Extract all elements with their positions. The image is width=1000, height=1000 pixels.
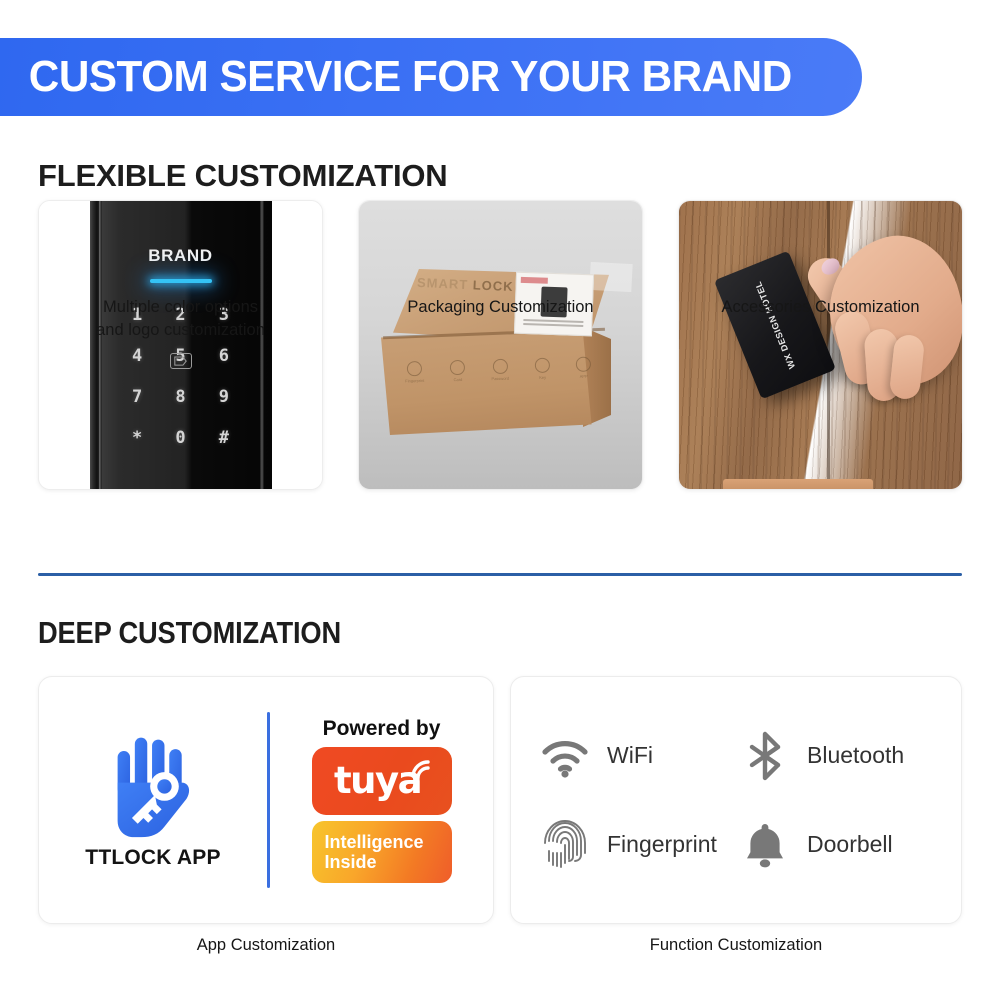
keypad-key: 4 (116, 346, 159, 366)
card-smart-lock: BRAND 1 2 3 4 5 6 7 8 9 * 0 # (38, 200, 323, 490)
intelligence-line1: Intelligence (325, 832, 452, 852)
lock-brand-text: BRAND (90, 246, 272, 266)
section-heading-flexible: FLEXIBLE CUSTOMIZATION (38, 158, 448, 194)
keypad-key: 7 (116, 387, 159, 407)
panel-app-customization: TTLOCK APP Powered by tuya Intelligence (38, 676, 494, 924)
smart-lock-image: BRAND 1 2 3 4 5 6 7 8 9 * 0 # (39, 201, 322, 489)
banner-title: CUSTOM SERVICE FOR YOUR BRAND (0, 52, 792, 102)
ttlock-block: TTLOCK APP (39, 730, 267, 870)
packaging-image: SMART LOCK Fingerprint Card Password Key… (359, 201, 642, 489)
label-logo (521, 277, 548, 284)
accessories-image: WX DESIGN HOTEL (679, 201, 962, 489)
function-item-fingerprint: Fingerprint (539, 819, 739, 871)
function-label: Fingerprint (607, 831, 717, 858)
caption-function-customization: Function Customization (510, 936, 962, 955)
function-item-bluetooth: Bluetooth (739, 730, 939, 782)
box-stamp (589, 262, 632, 292)
caption-smart-lock: Multiple color options and logo customiz… (38, 296, 323, 343)
keypad-key: 9 (202, 387, 245, 407)
box-feature-icon: APP (576, 357, 592, 379)
powered-by-label: Powered by (323, 717, 441, 741)
tuya-logo: tuya (312, 747, 452, 815)
keypad-key: * (116, 428, 159, 448)
keypad-key: 6 (202, 346, 245, 366)
box-feature-icon: Password (491, 359, 509, 381)
function-label: WiFi (607, 742, 653, 769)
box-feature-icon: Fingerprint (405, 361, 425, 383)
keypad-key: 8 (159, 387, 202, 407)
section-divider (38, 573, 962, 576)
wifi-icon (539, 730, 591, 782)
bell-icon (739, 819, 791, 871)
wood-shelf-edge (723, 479, 873, 490)
hand-key-icon (105, 730, 201, 840)
caption-app-customization: App Customization (38, 936, 494, 955)
card-packaging: SMART LOCK Fingerprint Card Password Key… (358, 200, 643, 490)
flexible-card-row: BRAND 1 2 3 4 5 6 7 8 9 * 0 # (0, 200, 1000, 550)
lock-body: BRAND 1 2 3 4 5 6 7 8 9 * 0 # (90, 201, 272, 490)
function-item-wifi: WiFi (539, 730, 739, 782)
intelligence-inside-badge: Intelligence Inside (312, 821, 452, 883)
box-brand-faded: SMART (417, 275, 469, 292)
box-feature-icon: Card (450, 360, 466, 382)
caption-line: Multiple color options (38, 296, 323, 319)
header-banner: CUSTOM SERVICE FOR YOUR BRAND (0, 38, 862, 116)
bluetooth-icon (739, 730, 791, 782)
hand (788, 219, 963, 439)
intelligence-line2: Inside (325, 852, 452, 872)
finger (889, 334, 926, 401)
keypad-key: # (202, 428, 245, 448)
lock-led-bar (150, 279, 212, 283)
rfid-card-icon (170, 353, 192, 369)
box-brand-main: LOCK (468, 277, 514, 294)
caption-line: and logo customization (38, 319, 323, 342)
caption-accessories: Accessories Customization (678, 296, 963, 319)
panel-function-customization: WiFi Bluetooth (510, 676, 962, 924)
keypad-key: 0 (159, 428, 202, 448)
ttlock-app-label: TTLOCK APP (85, 846, 220, 870)
section-heading-deep: DEEP CUSTOMIZATION (38, 615, 341, 651)
function-label: Doorbell (807, 831, 893, 858)
card-accessories: WX DESIGN HOTEL (678, 200, 963, 490)
wifi-arc-icon (410, 759, 436, 781)
label-line (523, 323, 583, 327)
tuya-block: Powered by tuya Intelligence Inside (270, 717, 493, 883)
fingerprint-icon (539, 819, 591, 871)
function-item-doorbell: Doorbell (739, 819, 939, 871)
tuya-wordmark: tuya (334, 759, 421, 802)
promo-page: CUSTOM SERVICE FOR YOUR BRAND FLEXIBLE C… (0, 0, 1000, 1000)
function-label: Bluetooth (807, 742, 904, 769)
caption-packaging: Packaging Customization (358, 296, 643, 319)
box-feature-icon: Key (535, 358, 551, 380)
